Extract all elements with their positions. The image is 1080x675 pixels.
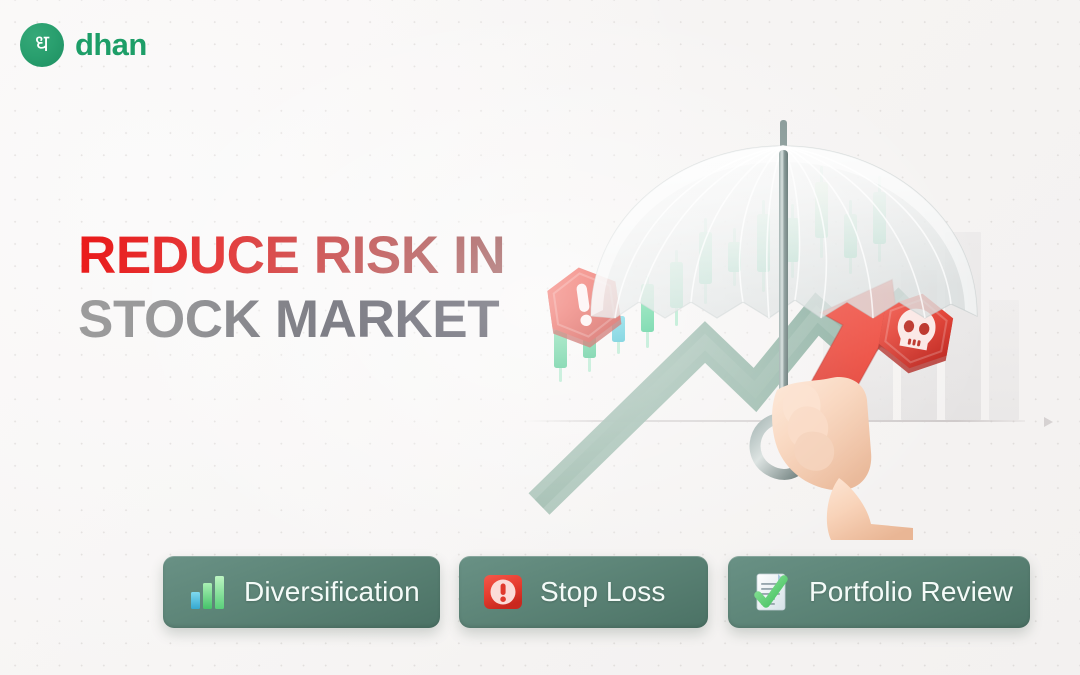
poster-canvas: ध dhan REDUCE RISK IN STOCK MARKET (0, 0, 1080, 675)
document-check-icon (750, 570, 794, 614)
brand-logo[interactable]: ध dhan (20, 23, 147, 67)
pill-label: Diversification (244, 576, 420, 608)
feature-pill-row: Diversification (0, 556, 1080, 632)
pill-diversification[interactable]: Diversification (163, 556, 440, 628)
hero-illustration (505, 110, 1065, 530)
headline-line-1: REDUCE RISK IN (78, 227, 505, 284)
pill-label: Portfolio Review (809, 576, 1013, 608)
brand-wordmark: dhan (75, 27, 147, 63)
dhan-logo-icon: ध (20, 23, 64, 67)
hand-icon (735, 360, 915, 540)
exclamation-square-icon (481, 570, 525, 614)
headline-line-2: STOCK MARKET (78, 291, 505, 348)
page-title: REDUCE RISK IN STOCK MARKET (78, 227, 505, 348)
pill-portfolio-review[interactable]: Portfolio Review (728, 556, 1030, 628)
bar-chart-icon (185, 570, 229, 614)
pill-stop-loss[interactable]: Stop Loss (459, 556, 708, 628)
pill-label: Stop Loss (540, 576, 665, 608)
